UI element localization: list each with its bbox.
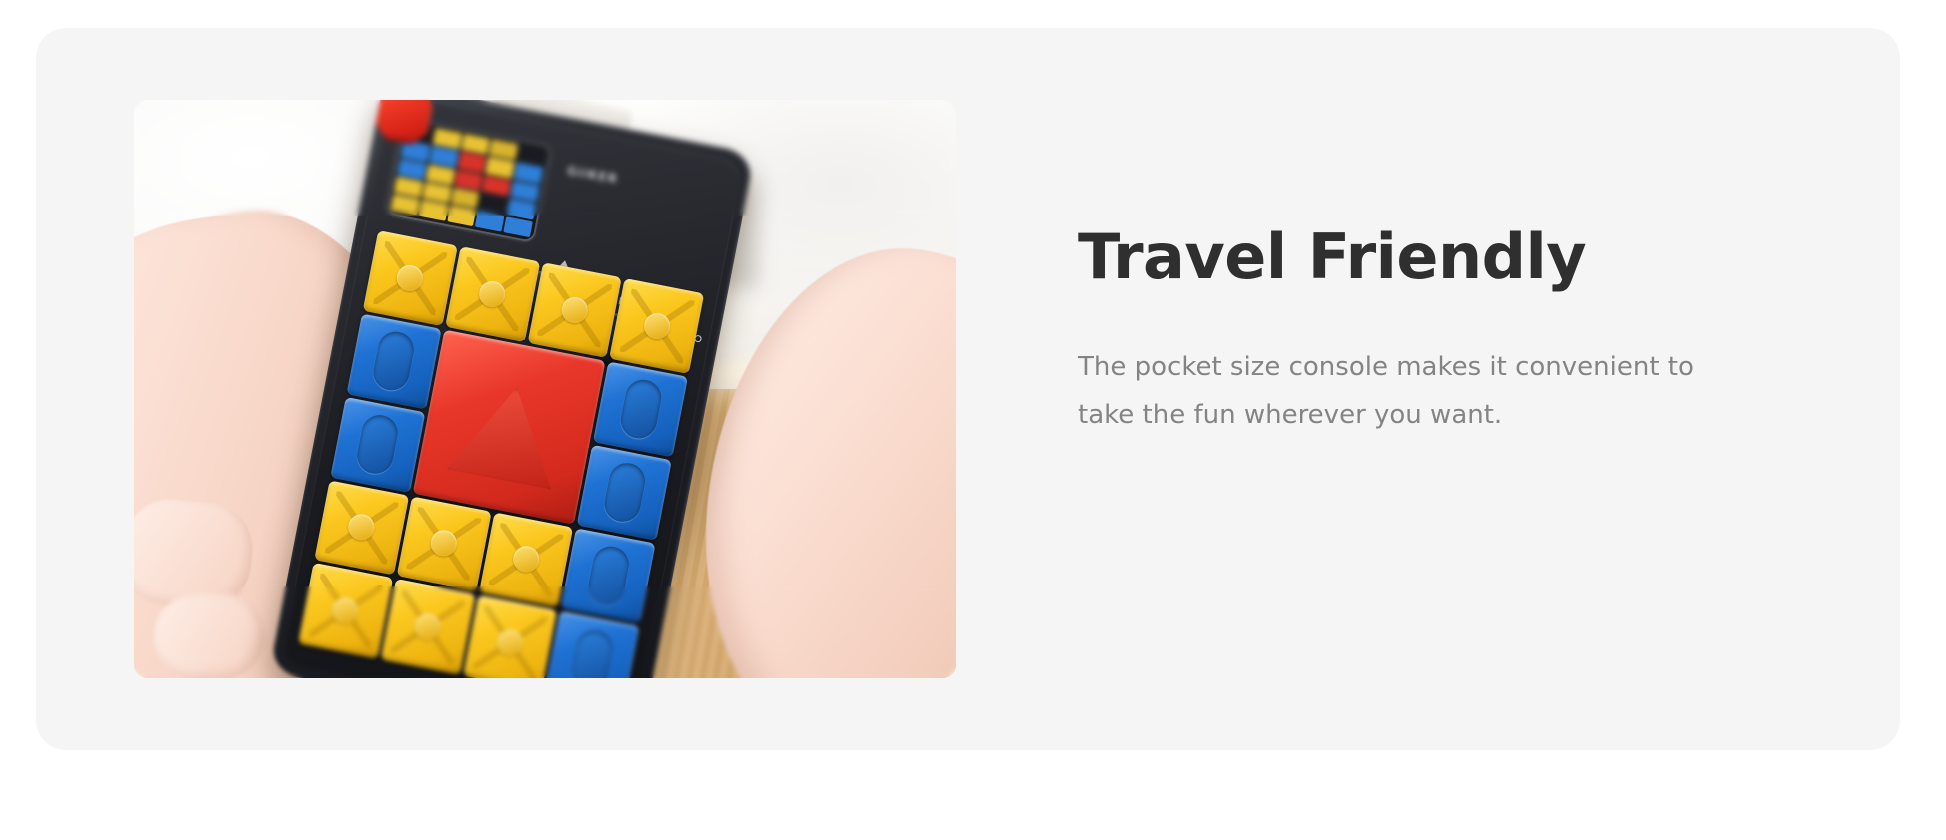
puzzle-tile-yellow-9[interactable]	[314, 479, 409, 575]
puzzle-tile-yellow-13[interactable]	[298, 563, 393, 659]
puzzle-tile-blue-6[interactable]	[593, 361, 688, 457]
led-pixel-3-4	[507, 198, 536, 219]
photo-scene: GiiKER L C ON/OFF	[134, 100, 956, 678]
led-pixel-1-4	[514, 162, 543, 183]
page-root: GiiKER L C ON/OFF Travel Friendl	[0, 0, 1946, 840]
puzzle-tile-blue-8[interactable]	[577, 444, 672, 540]
led-pixel-4-2	[447, 205, 476, 226]
led-pixel-3-1	[422, 182, 451, 203]
puzzle-tile-blue-12[interactable]	[561, 528, 656, 624]
puzzle-tile-yellow-2[interactable]	[527, 262, 622, 358]
led-pixel-0-1	[433, 128, 462, 149]
led-pixel-3-0	[394, 176, 423, 197]
puzzle-tile-yellow-15[interactable]	[463, 595, 558, 678]
led-pixel-2-3	[482, 175, 511, 196]
puzzle-tile-blue-4[interactable]	[346, 313, 441, 409]
led-pixel-3-3	[479, 193, 508, 214]
puzzle-tile-yellow-14[interactable]	[380, 579, 475, 675]
led-pixel-2-2	[454, 169, 483, 190]
led-pixel-0-4	[517, 144, 546, 165]
led-pixel-2-1	[426, 164, 455, 185]
puzzle-tile-red-5[interactable]	[412, 329, 606, 524]
led-pixel-4-1	[419, 200, 448, 221]
puzzle-tile-yellow-3[interactable]	[610, 278, 705, 374]
led-pixel-0-2	[461, 134, 490, 155]
led-pixel-4-0	[391, 194, 420, 215]
led-pixel-1-2	[457, 151, 486, 172]
product-photo: GiiKER L C ON/OFF	[134, 100, 956, 678]
puzzle-tile-yellow-1[interactable]	[445, 246, 540, 342]
text-column: Travel Friendly The pocket size console …	[1078, 224, 1838, 439]
puzzle-tile-blue-7[interactable]	[330, 396, 425, 492]
left-thumb-lower	[153, 592, 266, 678]
led-pixel-2-0	[398, 158, 427, 179]
puzzle-tile-blue-16[interactable]	[545, 611, 640, 678]
led-pixel-3-2	[451, 187, 480, 208]
led-pixel-1-1	[429, 146, 458, 167]
puzzle-tile-yellow-0[interactable]	[362, 230, 457, 326]
feature-card: GiiKER L C ON/OFF Travel Friendl	[36, 28, 1900, 750]
page-title: Travel Friendly	[1078, 224, 1838, 289]
led-pixel-1-3	[486, 157, 515, 178]
led-pixel-4-3	[475, 211, 504, 232]
led-pixel-4-4	[503, 216, 532, 237]
puzzle-tile-yellow-10[interactable]	[396, 495, 491, 591]
description-text: The pocket size console makes it conveni…	[1078, 289, 1718, 439]
led-pixel-0-3	[489, 139, 518, 160]
puzzle-tile-yellow-11[interactable]	[479, 511, 574, 607]
led-pixel-2-4	[510, 180, 539, 201]
